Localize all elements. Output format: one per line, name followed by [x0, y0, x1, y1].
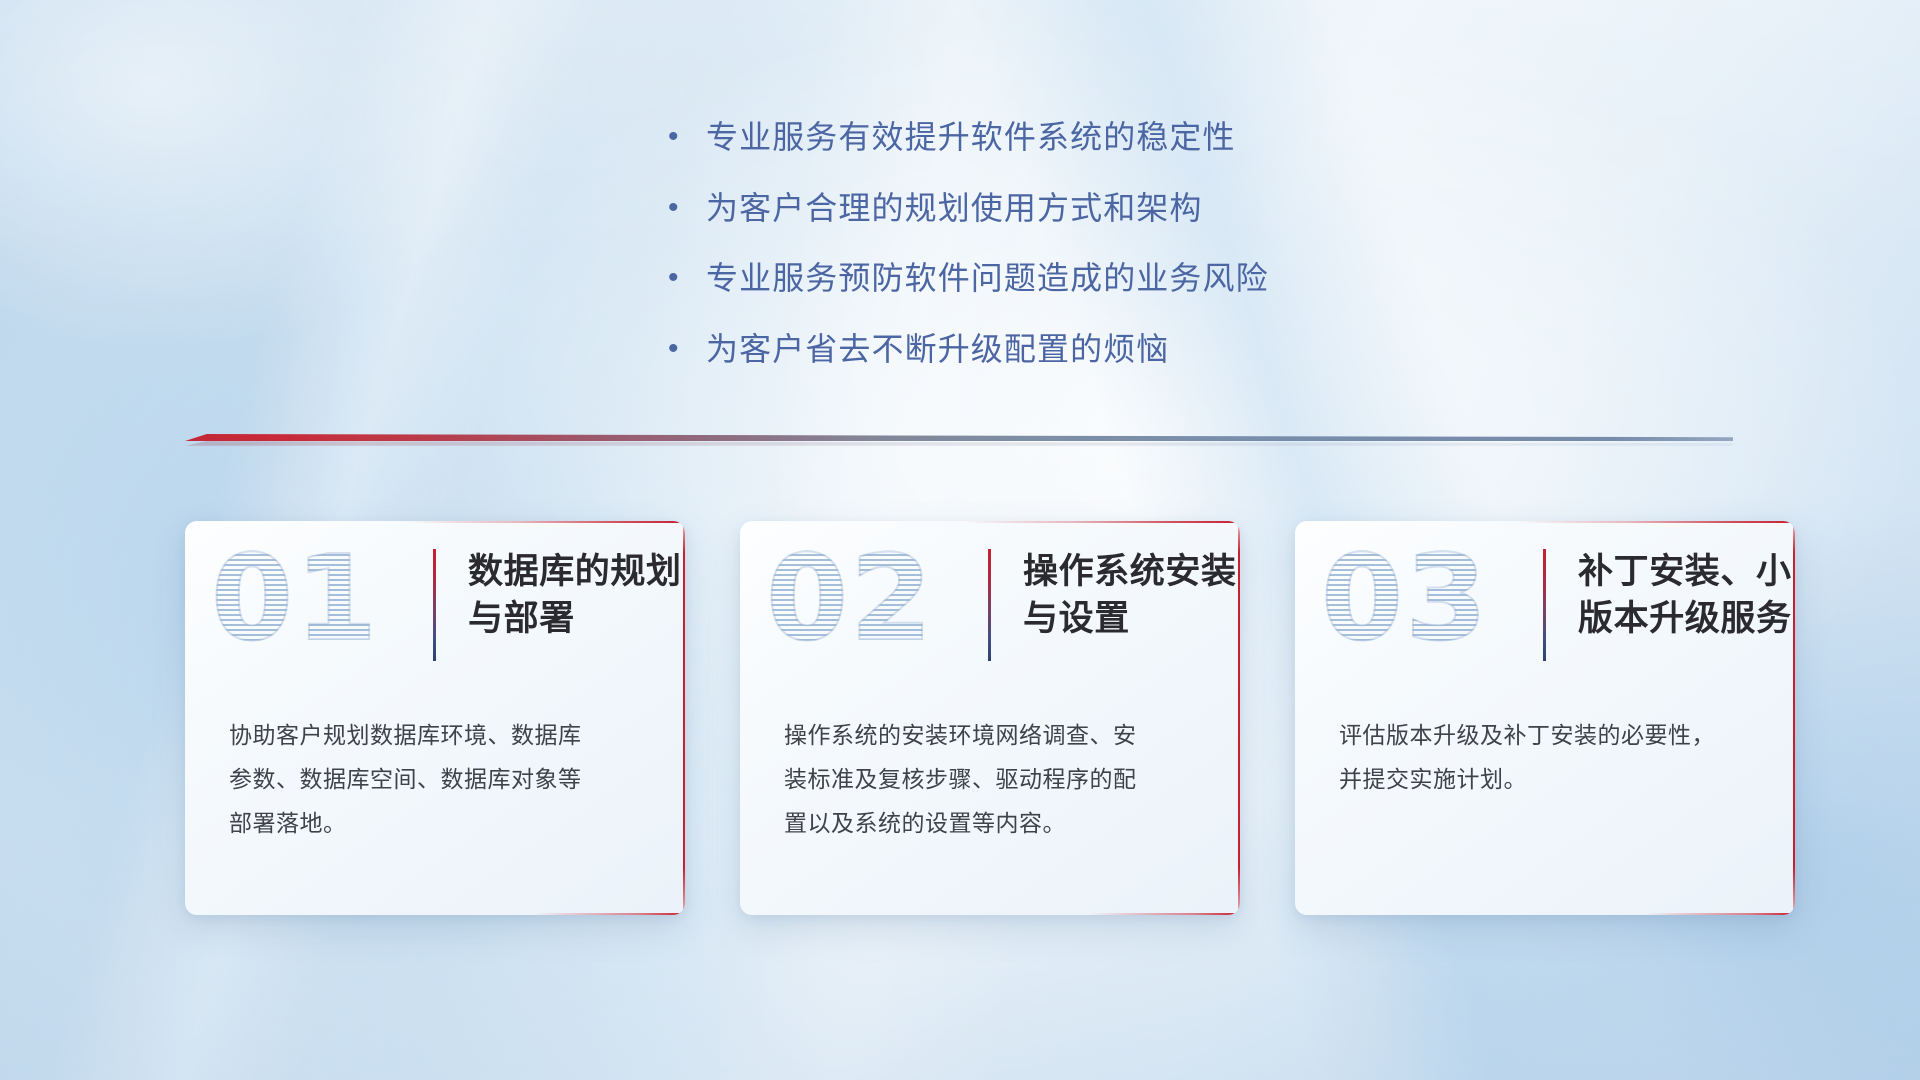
list-item: • 专业服务有效提升软件系统的稳定性 — [668, 118, 1488, 158]
service-card-group: 01 01 数据库的规划 与部署 协助客户规划数据库环境、数据库 参数、数据库空… — [185, 521, 1795, 921]
card-title: 数据库的规划 与部署 — [468, 549, 682, 643]
card-title-accent-bar — [1543, 549, 1546, 661]
card-title-accent-bar — [433, 549, 436, 661]
card-body-text: 评估版本升级及补丁安装的必要性， 并提交实施计划。 — [1339, 713, 1755, 801]
section-divider — [185, 428, 1733, 450]
card-body-text: 协助客户规划数据库环境、数据库 参数、数据库空间、数据库对象等 部署落地。 — [229, 713, 645, 845]
bullet-text: 专业服务预防软件问题造成的业务风险 — [706, 259, 1269, 299]
benefits-bullet-list: • 专业服务有效提升软件系统的稳定性 • 为客户合理的规划使用方式和架构 • 专… — [668, 118, 1488, 401]
list-item: • 为客户省去不断升级配置的烦恼 — [668, 330, 1488, 370]
bullet-text: 为客户省去不断升级配置的烦恼 — [706, 330, 1169, 370]
card-title: 操作系统安装 与设置 — [1023, 549, 1237, 643]
card-body: 评估版本升级及补丁安装的必要性， 并提交实施计划。 — [1339, 713, 1755, 801]
card-title: 补丁安装、小 版本升级服务 — [1578, 549, 1792, 643]
card-number-stripes: 01 — [211, 539, 379, 657]
bullet-dot-icon: • — [668, 189, 706, 226]
card-accent-bottom — [1645, 913, 1795, 915]
list-item: • 为客户合理的规划使用方式和架构 — [668, 189, 1488, 229]
card-header: 02 02 操作系统安装 与设置 — [740, 521, 1240, 699]
bullet-dot-icon: • — [668, 118, 706, 155]
card-header: 03 03 补丁安装、小 版本升级服务 — [1295, 521, 1795, 699]
card-body-text: 操作系统的安装环境网络调查、安 装标准及复核步骤、驱动程序的配 置以及系统的设置… — [784, 713, 1200, 845]
list-item: • 专业服务预防软件问题造成的业务风险 — [668, 259, 1488, 299]
service-card-02[interactable]: 02 02 操作系统安装 与设置 操作系统的安装环境网络调查、安 装标准及复核步… — [740, 521, 1240, 915]
bullet-text: 为客户合理的规划使用方式和架构 — [706, 189, 1203, 229]
card-body: 操作系统的安装环境网络调查、安 装标准及复核步骤、驱动程序的配 置以及系统的设置… — [784, 713, 1200, 845]
card-title-accent-bar — [988, 549, 991, 661]
bullet-dot-icon: • — [668, 330, 706, 367]
card-accent-bottom — [535, 913, 685, 915]
card-number-stripes: 02 — [766, 539, 934, 657]
bullet-dot-icon: • — [668, 259, 706, 296]
card-number-stripes: 03 — [1321, 539, 1489, 657]
section-divider-shadow — [185, 441, 1733, 446]
card-title-group: 数据库的规划 与部署 — [433, 549, 682, 661]
bullet-text: 专业服务有效提升软件系统的稳定性 — [706, 118, 1236, 158]
section-divider-line — [185, 434, 1733, 441]
card-accent-bottom — [1090, 913, 1240, 915]
service-card-01[interactable]: 01 01 数据库的规划 与部署 协助客户规划数据库环境、数据库 参数、数据库空… — [185, 521, 685, 915]
service-card-03[interactable]: 03 03 补丁安装、小 版本升级服务 评估版本升级及补丁安装的必要性， 并提交… — [1295, 521, 1795, 915]
card-title-group: 操作系统安装 与设置 — [988, 549, 1237, 661]
card-header: 01 01 数据库的规划 与部署 — [185, 521, 685, 699]
card-title-group: 补丁安装、小 版本升级服务 — [1543, 549, 1792, 661]
card-body: 协助客户规划数据库环境、数据库 参数、数据库空间、数据库对象等 部署落地。 — [229, 713, 645, 845]
